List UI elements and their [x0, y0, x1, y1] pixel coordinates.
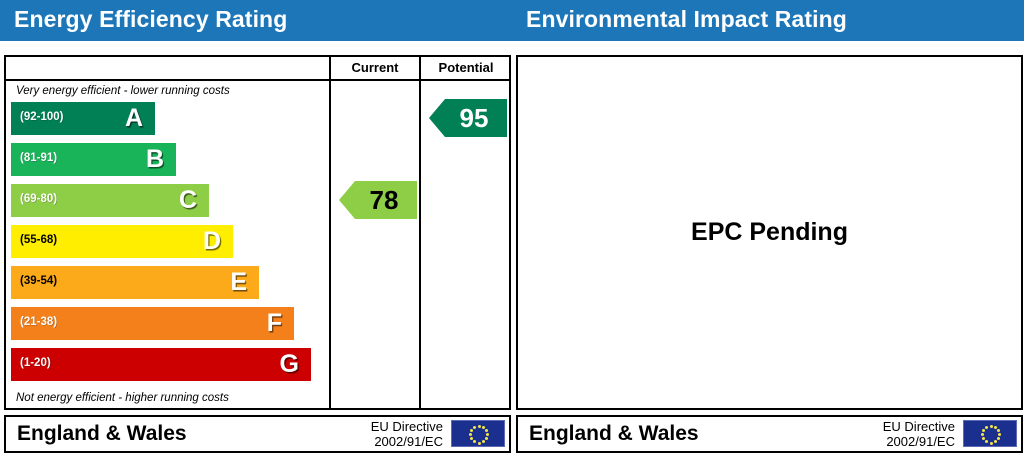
directive-line-1: EU Directive: [845, 420, 955, 435]
footer-region-label: England & Wales: [17, 422, 187, 446]
band-letter-g: G: [280, 350, 299, 379]
epc-certificate: Energy Efficiency Rating Current Potenti…: [0, 0, 1024, 457]
footer-directive: EU Directive 2002/91/EC: [845, 420, 955, 449]
band-range-g: (1-20): [20, 357, 51, 369]
band-letter-e: E: [230, 268, 247, 297]
rating-band-e: (39-54)E: [11, 266, 259, 299]
eu-star: [981, 433, 984, 436]
band-letter-f: F: [267, 309, 282, 338]
rating-band-f: (21-38)F: [11, 307, 294, 340]
eu-star: [473, 440, 476, 443]
footer-directive: EU Directive 2002/91/EC: [333, 420, 443, 449]
directive-line-2: 2002/91/EC: [333, 435, 443, 450]
epc-pending-text: EPC Pending: [691, 218, 848, 247]
eu-flag-icon: [451, 420, 505, 447]
directive-line-2: 2002/91/EC: [845, 435, 955, 450]
eu-star: [478, 442, 481, 445]
band-letter-b: B: [146, 145, 164, 174]
column-divider-potential: [419, 57, 421, 408]
page-title-environmental: Environmental Impact Rating: [526, 6, 847, 33]
environmental-impact-panel: Environmental Impact Rating EPC Pending …: [512, 0, 1024, 457]
rating-band-a: (92-100)A: [11, 102, 155, 135]
band-range-f: (21-38): [20, 316, 57, 328]
band-range-d: (55-68): [20, 234, 57, 246]
eu-star: [990, 442, 993, 445]
eu-star: [985, 440, 988, 443]
page-title-energy: Energy Efficiency Rating: [14, 6, 287, 33]
band-range-e: (39-54): [20, 275, 57, 287]
energy-efficiency-title-bar: Energy Efficiency Rating: [0, 0, 512, 41]
directive-line-1: EU Directive: [333, 420, 443, 435]
band-range-c: (69-80): [20, 193, 57, 205]
rating-band-d: (55-68)D: [11, 225, 233, 258]
eu-star: [990, 425, 993, 428]
potential-rating-arrow: 95: [429, 99, 507, 137]
eu-star: [997, 437, 1000, 440]
current-rating-arrow: 78: [339, 181, 417, 219]
rating-band-g: (1-20)G: [11, 348, 311, 381]
eu-star: [998, 433, 1001, 436]
eu-star: [994, 440, 997, 443]
band-letter-a: A: [125, 104, 143, 133]
footer-right: England & Wales EU Directive 2002/91/EC: [516, 415, 1023, 453]
column-header-potential: Potential: [421, 60, 511, 75]
column-divider-current: [329, 57, 331, 408]
footer-region-label: England & Wales: [529, 422, 699, 446]
eu-star: [473, 426, 476, 429]
rating-band-c: (69-80)C: [11, 184, 209, 217]
footer-left: England & Wales EU Directive 2002/91/EC: [4, 415, 511, 453]
eu-star: [478, 425, 481, 428]
rating-band-b: (81-91)B: [11, 143, 176, 176]
environmental-impact-title-bar: Environmental Impact Rating: [512, 0, 1024, 41]
eu-star: [985, 426, 988, 429]
eu-star: [482, 440, 485, 443]
eu-star: [994, 426, 997, 429]
band-range-a: (92-100): [20, 111, 63, 123]
eu-star: [469, 433, 472, 436]
band-letter-d: D: [203, 227, 221, 256]
eu-star: [997, 429, 1000, 432]
energy-rating-chart: Current Potential Very energy efficient …: [4, 55, 511, 410]
energy-efficiency-panel: Energy Efficiency Rating Current Potenti…: [0, 0, 512, 457]
eu-star: [482, 426, 485, 429]
eu-star: [486, 433, 489, 436]
rating-bands-area: Very energy efficient - lower running co…: [6, 81, 329, 410]
eu-star: [470, 429, 473, 432]
eu-star: [485, 437, 488, 440]
column-header-current: Current: [331, 60, 419, 75]
eu-star: [982, 429, 985, 432]
band-letter-c: C: [179, 186, 197, 215]
environmental-rating-placeholder: EPC Pending: [516, 55, 1023, 410]
scale-note-top: Very energy efficient - lower running co…: [16, 85, 230, 97]
band-range-b: (81-91): [20, 152, 57, 164]
eu-star: [485, 429, 488, 432]
scale-note-bottom: Not energy efficient - higher running co…: [16, 392, 229, 404]
eu-flag-icon: [963, 420, 1017, 447]
